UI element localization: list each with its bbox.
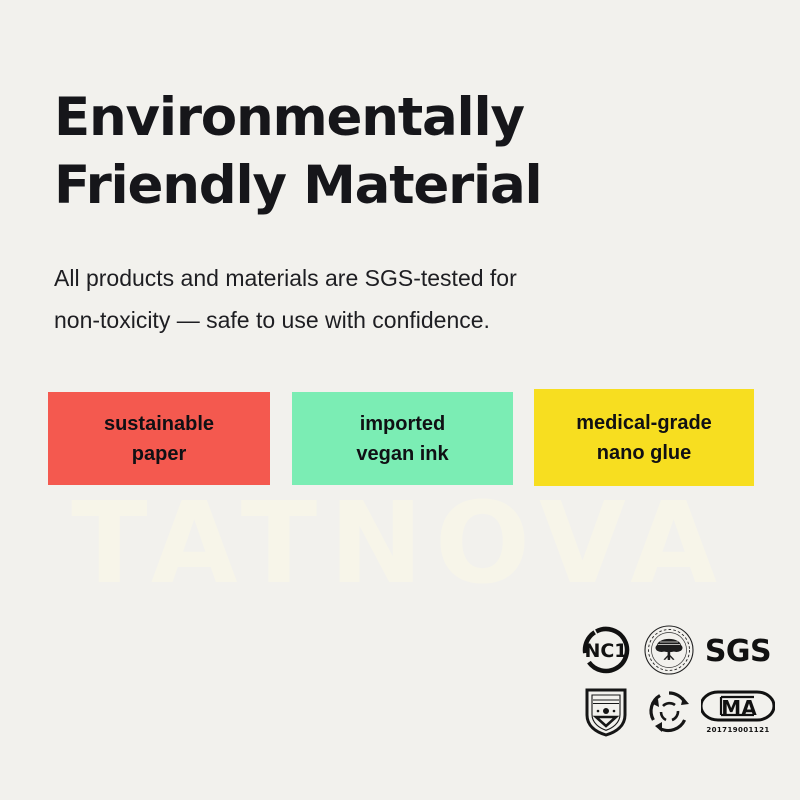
sgs-certification-icon: SGS — [701, 620, 775, 680]
material-badge-group: sustainable paper imported vegan ink med… — [48, 392, 754, 488]
svg-text:NC1: NC1 — [584, 640, 627, 662]
page-title: Environmentally Friendly Material — [54, 84, 654, 220]
material-badge-line-2: nano glue — [597, 438, 691, 468]
page-title-line-2: Friendly Material — [54, 152, 654, 220]
brand-watermark: TATNOVA — [0, 484, 800, 604]
material-badge-sustainable-paper: sustainable paper — [48, 392, 270, 485]
page-description: All products and materials are SGS-teste… — [54, 257, 664, 341]
poster-canvas: TATNOVA Environmentally Friendly Materia… — [0, 0, 800, 800]
page-description-line-1: All products and materials are SGS-teste… — [54, 257, 664, 299]
tree-seal-certification-icon — [637, 620, 701, 680]
material-badge-line-1: medical-grade — [576, 408, 712, 438]
material-badge-line-1: sustainable — [104, 409, 214, 439]
sgs-label: SGS — [705, 634, 771, 667]
page-title-line-1: Environmentally — [54, 84, 654, 152]
cma-certification-icon: MA 201719001121 — [701, 680, 775, 742]
shield-certification-icon — [575, 680, 637, 742]
recycle-certification-icon — [637, 680, 701, 742]
nc1-certification-icon: NC1 — [575, 620, 637, 680]
cma-licence-number: 201719001121 — [706, 726, 769, 734]
material-badge-medical-grade-nano-glue: medical-grade nano glue — [534, 389, 754, 486]
cma-label: MA — [721, 696, 757, 720]
material-badge-line-1: imported — [360, 409, 446, 439]
material-badge-imported-vegan-ink: imported vegan ink — [292, 392, 513, 485]
page-description-line-2: non-toxicity — safe to use with confiden… — [54, 299, 664, 341]
material-badge-line-2: paper — [132, 439, 186, 469]
material-badge-line-2: vegan ink — [356, 439, 448, 469]
certification-logo-group: NC1 — [575, 620, 775, 742]
